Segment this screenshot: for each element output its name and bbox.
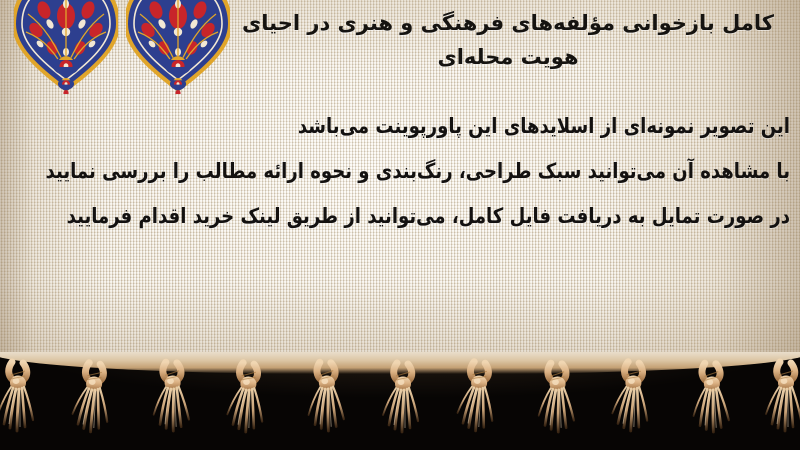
carpet-fringe-band bbox=[0, 352, 800, 450]
carpet-fringe-tassels bbox=[0, 352, 800, 450]
persian-medallion-pendant-ornament-left bbox=[14, 0, 118, 94]
slide-title: کامل بازخوانی مؤلفه‌های فرهنگی و هنری در… bbox=[228, 6, 788, 74]
slide-body-line-3: در صورت تمایل به دریافت فایل کامل، می‌تو… bbox=[119, 194, 790, 239]
slide-title-line-2: هویت محله‌ای bbox=[228, 40, 788, 74]
slide-root: کامل بازخوانی مؤلفه‌های فرهنگی و هنری در… bbox=[0, 0, 800, 450]
persian-medallion-pendant-ornament-right bbox=[126, 0, 230, 94]
slide-body-line-1: این تصویر نمونه‌ای از اسلایدهای این پاور… bbox=[119, 104, 790, 149]
slide-body: این تصویر نمونه‌ای از اسلایدهای این پاور… bbox=[119, 104, 790, 239]
slide-title-line-1: کامل بازخوانی مؤلفه‌های فرهنگی و هنری در… bbox=[228, 6, 788, 40]
slide-body-line-2: با مشاهده آن می‌توانید سبک طراحی، رنگ‌بن… bbox=[119, 149, 790, 194]
